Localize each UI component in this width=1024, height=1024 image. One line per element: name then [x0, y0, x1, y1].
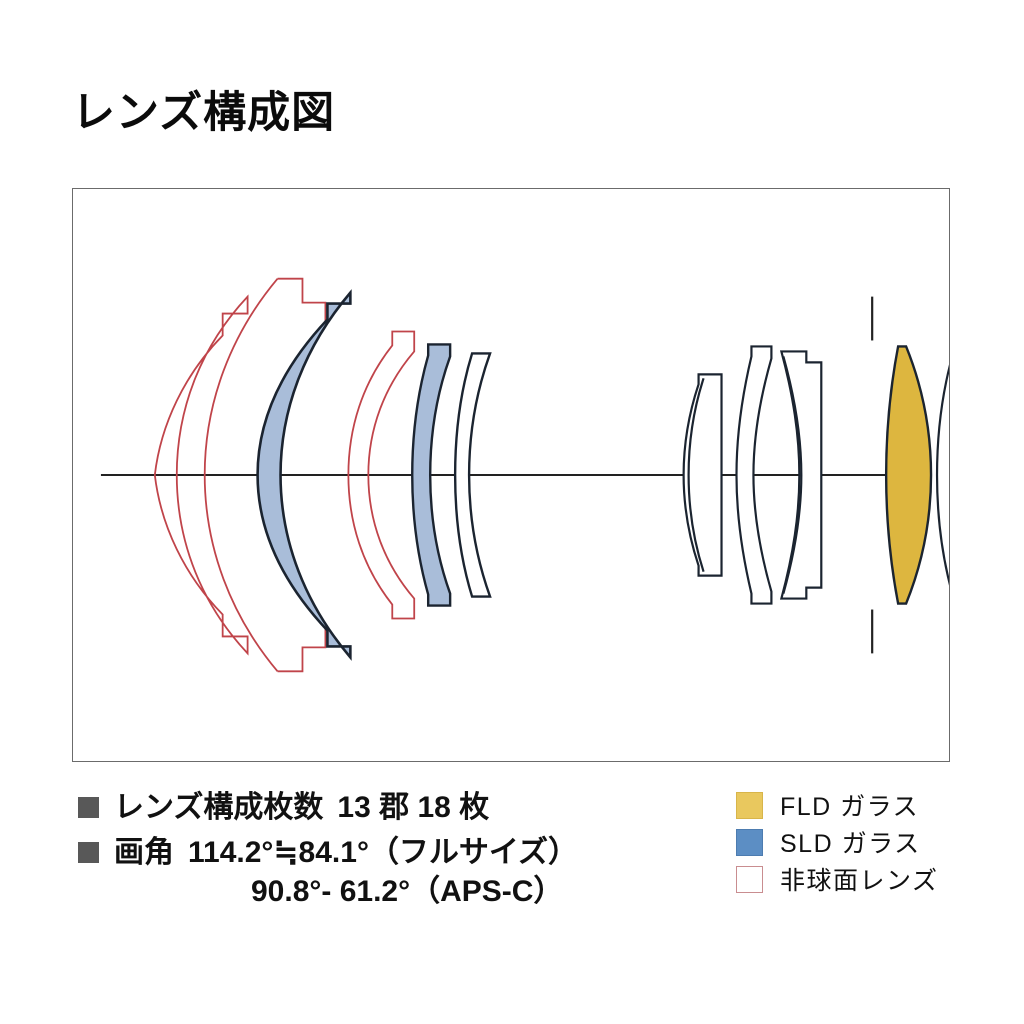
lens-construction-page: レンズ構成図 — [0, 0, 1024, 1024]
legend-label-sld: SLD ガラス — [780, 824, 921, 860]
spec-row-angle-of-view: 画角114.2°≒84.1°（フルサイズ） 90.8°- 61.2°（APS-C… — [78, 833, 678, 913]
spec-list: レンズ構成枚数13 郡 18 枚 画角114.2°≒84.1°（フルサイズ） 9… — [78, 788, 678, 916]
legend-swatch-aspherical-icon — [736, 866, 763, 893]
legend-label-aspherical: 非球面レンズ — [780, 861, 939, 897]
legend-item-sld: SLD ガラス — [736, 825, 939, 859]
legend-item-fld: FLD ガラス — [736, 788, 939, 822]
aspherical-guide-outline-2b — [278, 279, 326, 323]
lens-cross-section-svg — [73, 189, 949, 761]
bullet-square-icon — [78, 842, 99, 863]
spec-element-count-text: レンズ構成枚数13 郡 18 枚 — [114, 788, 489, 829]
legend-item-aspherical: 非球面レンズ — [736, 862, 939, 896]
legend-swatch-fld-icon — [736, 792, 763, 819]
legend-label-fld: FLD ガラス — [780, 787, 919, 823]
bullet-square-icon — [78, 797, 99, 818]
aspherical-guide-outline-2c — [278, 627, 326, 671]
spec-row-element-count: レンズ構成枚数13 郡 18 枚 — [78, 788, 678, 829]
spec-angle-value-fullframe: 114.2°≒84.1°（フルサイズ） — [188, 836, 578, 869]
legend: FLD ガラス SLD ガラス 非球面レンズ — [736, 788, 939, 899]
page-title: レンズ構成図 — [72, 92, 335, 135]
spec-element-count-label: レンズ構成枚数 — [114, 791, 323, 824]
spec-angle-value-apsc: 90.8°- 61.2°（APS-C） — [251, 872, 578, 913]
legend-swatch-sld-icon — [736, 829, 763, 856]
lens-diagram-frame — [72, 188, 950, 762]
spec-angle-label: 画角 — [114, 836, 174, 869]
rear-group — [886, 323, 949, 628]
spec-angle-text: 画角114.2°≒84.1°（フルサイズ） — [114, 833, 578, 874]
spec-element-count-value: 13 郡 18 枚 — [337, 791, 489, 824]
lens-element-10-meniscus — [937, 333, 949, 616]
lens-element-9-fld-biconvex — [886, 346, 931, 603]
spec-angle-block: 画角114.2°≒84.1°（フルサイズ） 90.8°- 61.2°（APS-C… — [114, 833, 578, 913]
